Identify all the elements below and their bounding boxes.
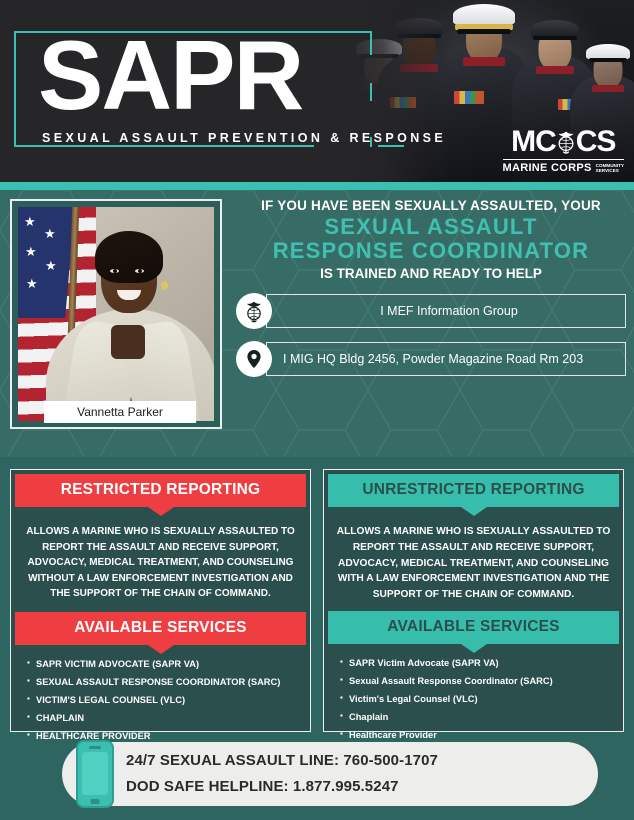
list-item: VICTIM'S LEGAL COUNSEL (VLC) (27, 695, 296, 705)
sexual-assault-line: 24/7 SEXUAL ASSAULT LINE: 760-500-1707 (126, 752, 438, 769)
coordinator-details: IF YOU HAVE BEEN SEXUALLY ASSAULTED, YOU… (236, 198, 626, 377)
unrestricted-heading: UNRESTRICTED REPORTING (328, 474, 619, 507)
unrestricted-heading-text: UNRESTRICTED REPORTING (362, 481, 584, 498)
eagle-globe-anchor-icon (553, 129, 579, 155)
restricted-heading-text: RESTRICTED REPORTING (61, 481, 260, 498)
coordinator-title-line2: RESPONSE COORDINATOR (236, 239, 626, 263)
list-item: Victim's Legal Counsel (VLC) (340, 694, 609, 704)
banner-notch (148, 645, 174, 654)
coordinator-portrait: ★ ★ ★ ★ ★ (18, 207, 214, 421)
unrestricted-services-heading: AVAILABLE SERVICES (328, 611, 619, 644)
unrestricted-body: ALLOWS A MARINE WHO IS SEXUALLY ASSAULTE… (328, 507, 619, 611)
list-item: SAPR VICTIM ADVOCATE (SAPR VA) (27, 659, 296, 669)
eagle-globe-anchor-icon (236, 293, 272, 329)
map-pin-icon (236, 341, 272, 377)
unit-value: I MEF Information Group (266, 294, 626, 328)
list-item: SAPR Victim Advocate (SAPR VA) (340, 658, 609, 668)
location-value: I MIG HQ Bldg 2456, Powder Magazine Road… (266, 342, 626, 376)
unrestricted-services-heading-text: AVAILABLE SERVICES (387, 618, 559, 635)
banner-notch (148, 507, 174, 516)
hotline-footer: 24/7 SEXUAL ASSAULT LINE: 760-500-1707 D… (0, 732, 634, 815)
poster-subtitle: SEXUAL ASSAULT PREVENTION & RESPONSE (42, 131, 446, 145)
mccs-logo: MC CS MARINE CORPS COMMUNITY SERVICES (503, 127, 625, 174)
list-item: Chaplain (340, 712, 609, 722)
restricted-body: ALLOWS A MARINE WHO IS SEXUALLY ASSAULTE… (15, 507, 306, 612)
panel-unrestricted-reporting: UNRESTRICTED REPORTING ALLOWS A MARINE W… (323, 469, 624, 732)
poster-header: SAPR SEXUAL ASSAULT PREVENTION & RESPONS… (0, 0, 634, 182)
teal-accent-strip (0, 182, 634, 190)
restricted-heading: RESTRICTED REPORTING (15, 474, 306, 507)
poster-title: SAPR (38, 26, 302, 124)
lead-line: IF YOU HAVE BEEN SEXUALLY ASSAULTED, YOU… (236, 198, 626, 213)
banner-notch (461, 507, 487, 516)
banner-notch (461, 644, 487, 653)
coordinator-title-line1: SEXUAL ASSAULT (236, 215, 626, 239)
mccs-logo-cs: CS (576, 127, 616, 157)
panel-restricted-reporting: RESTRICTED REPORTING ALLOWS A MARINE WHO… (10, 469, 311, 732)
coordinator-tagline: IS TRAINED AND READY TO HELP (236, 266, 626, 281)
restricted-services-heading-text: AVAILABLE SERVICES (74, 619, 246, 636)
restricted-services-heading: AVAILABLE SERVICES (15, 612, 306, 645)
mccs-logo-mc: MC (511, 127, 556, 157)
list-item: CHAPLAIN (27, 713, 296, 723)
coordinator-photo-card: ★ ★ ★ ★ ★ Vannetta Parker (10, 199, 222, 429)
smartphone-icon (76, 740, 114, 808)
mccs-logo-line1: MARINE CORPS (503, 162, 592, 174)
photo-left-fade (344, 0, 454, 182)
reporting-panels: RESTRICTED REPORTING ALLOWS A MARINE WHO… (0, 457, 634, 732)
location-row: I MIG HQ Bldg 2456, Powder Magazine Road… (236, 341, 626, 377)
list-item: SEXUAL ASSAULT RESPONSE COORDINATOR (SAR… (27, 677, 296, 687)
mccs-logo-line2b: SERVICES (596, 168, 624, 174)
coordinator-nameplate: Vannetta Parker (44, 401, 196, 423)
list-item: Sexual Assault Response Coordinator (SAR… (340, 676, 609, 686)
unit-row: I MEF Information Group (236, 293, 626, 329)
dod-safe-helpline: DOD SAFE HELPLINE: 1.877.995.5247 (126, 778, 438, 795)
coordinator-section: ★ ★ ★ ★ ★ Vannetta Parker IF YOU HAVE BE… (0, 190, 634, 457)
